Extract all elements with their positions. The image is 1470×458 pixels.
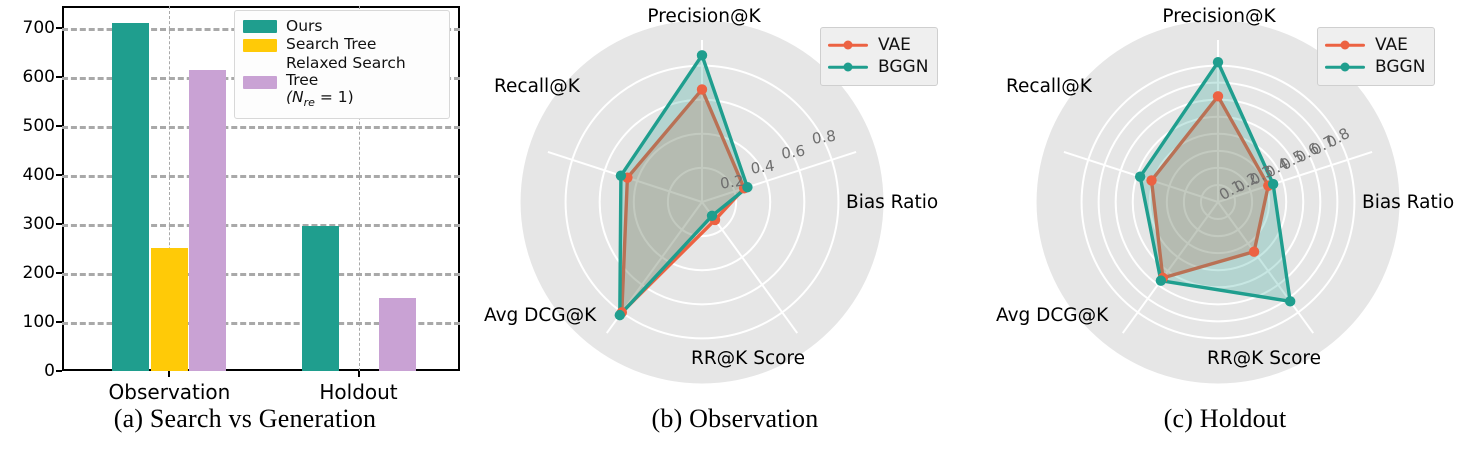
- radar-legend-observation: VAE BGGN: [820, 27, 938, 86]
- legend-swatch-ours: [243, 20, 277, 33]
- bar: [112, 23, 149, 371]
- radar-data-point: [1285, 296, 1295, 306]
- bar: [189, 70, 226, 371]
- radar-data-point: [1213, 91, 1223, 101]
- y-axis-tick-mark: [56, 125, 62, 127]
- radar-data-point: [707, 211, 717, 221]
- legend-swatch-relaxed-search-tree: [243, 76, 277, 89]
- caption-panel-b: (b) Observation: [490, 404, 980, 434]
- y-axis-tick-label: 100: [23, 312, 55, 332]
- radar-data-point: [697, 50, 707, 60]
- radar-data-point: [615, 310, 625, 320]
- y-axis-tick-label: 600: [23, 67, 55, 87]
- radar-axis-label: Bias Ratio: [846, 192, 938, 213]
- bar: [151, 248, 188, 371]
- legend-item-vae: VAE: [1325, 35, 1425, 55]
- radial-tick-label: 0.8: [811, 127, 837, 148]
- radar-data-point: [1249, 246, 1259, 256]
- legend-marker-vae: [828, 39, 868, 51]
- radar-axis-label: Precision@K: [1162, 6, 1275, 27]
- y-axis-tick-mark: [56, 272, 62, 274]
- radial-tick-label: 0.6: [780, 142, 806, 163]
- legend-n-subscript: re: [304, 97, 315, 110]
- caption-panel-a: (a) Search vs Generation: [0, 404, 490, 434]
- legend-item-vae: VAE: [828, 35, 928, 55]
- radar-legend-holdout: VAE BGGN: [1317, 27, 1435, 86]
- legend-item-bggn: BGGN: [1325, 57, 1425, 77]
- y-axis-tick-label: 300: [23, 214, 55, 234]
- x-axis-tick-label: Observation: [109, 380, 231, 404]
- radar-data-point: [697, 84, 707, 94]
- radar-axis-label: Avg DCG@K: [484, 305, 596, 326]
- legend-marker-bggn: [828, 61, 868, 73]
- legend-item-search-tree: Search Tree: [243, 36, 441, 53]
- radar-axis-label: RR@K Score: [691, 348, 805, 369]
- bar: [379, 298, 416, 371]
- y-axis-tick-label: 700: [23, 18, 55, 38]
- legend-label-relaxed-search-tree: Relaxed Search Tree (Nre = 1): [286, 55, 441, 110]
- y-axis-tick-mark: [56, 27, 62, 29]
- y-axis-tick-label: 400: [23, 165, 55, 185]
- bar: [302, 226, 339, 372]
- x-axis-tick-mark: [358, 371, 360, 377]
- legend-label-bggn: BGGN: [1375, 57, 1425, 77]
- radar-axis-label: Avg DCG@K: [996, 305, 1108, 326]
- y-axis-tick-mark: [56, 370, 62, 372]
- bar-chart-legend: Ours Search Tree Relaxed Search Tree (Nr…: [234, 10, 450, 119]
- bar-chart-plot-area: Discovered Bias Number 01002003004005006…: [62, 6, 460, 371]
- legend-item-ours: Ours: [243, 18, 441, 35]
- legend-label-bggn: BGGN: [878, 57, 928, 77]
- legend-label-vae: VAE: [878, 35, 911, 55]
- x-axis-tick-label: Holdout: [319, 380, 397, 404]
- radar-data-point: [1135, 172, 1145, 182]
- legend-n-symbol: (N: [286, 88, 304, 106]
- figure-row: Discovered Bias Number 01002003004005006…: [0, 0, 1470, 458]
- legend-label-search-tree: Search Tree: [286, 36, 376, 53]
- y-axis-tick-label: 500: [23, 116, 55, 136]
- caption-panel-c: (c) Holdout: [980, 404, 1470, 434]
- legend-swatch-search-tree: [243, 39, 277, 52]
- y-axis-tick-label: 0: [44, 361, 55, 381]
- legend-label-relaxed-line1: Relaxed Search Tree: [286, 54, 406, 89]
- radar-data-point: [1146, 175, 1156, 185]
- radar-data-point: [1156, 275, 1166, 285]
- radar-data-point: [616, 170, 626, 180]
- legend-item-bggn: BGGN: [828, 57, 928, 77]
- legend-label-ours: Ours: [286, 18, 322, 35]
- legend-marker-vae: [1325, 39, 1365, 51]
- x-axis-tick-mark: [168, 371, 170, 377]
- panel-observation-radar: 0.20.40.60.8Precision@KBias RatioRR@K Sc…: [490, 0, 980, 458]
- y-axis-tick-mark: [56, 223, 62, 225]
- radar-axis-label: RR@K Score: [1207, 348, 1321, 369]
- y-axis-tick-mark: [56, 174, 62, 176]
- legend-item-relaxed-search-tree: Relaxed Search Tree (Nre = 1): [243, 55, 441, 110]
- radar-axis-label: Recall@K: [494, 76, 580, 97]
- legend-label-relaxed-line2: (Nre = 1): [286, 88, 354, 106]
- radar-axis-label: Precision@K: [647, 6, 760, 27]
- radial-tick-label: 0.2: [719, 172, 745, 193]
- radar-data-point: [1213, 57, 1223, 67]
- y-axis-tick-mark: [56, 321, 62, 323]
- legend-marker-bggn: [1325, 61, 1365, 73]
- panel-holdout-radar: 0.10.20.30.40.50.60.70.8Precision@KBias …: [980, 0, 1470, 458]
- radial-tick-label: 0.4: [750, 157, 776, 178]
- radar-axis-label: Bias Ratio: [1362, 192, 1454, 213]
- y-axis-tick-mark: [56, 76, 62, 78]
- panel-search-vs-generation: Discovered Bias Number 01002003004005006…: [0, 0, 490, 458]
- y-axis-tick-label: 200: [23, 263, 55, 283]
- legend-label-vae: VAE: [1375, 35, 1408, 55]
- legend-n-value: = 1): [315, 88, 354, 106]
- radar-axis-label: Recall@K: [1006, 76, 1092, 97]
